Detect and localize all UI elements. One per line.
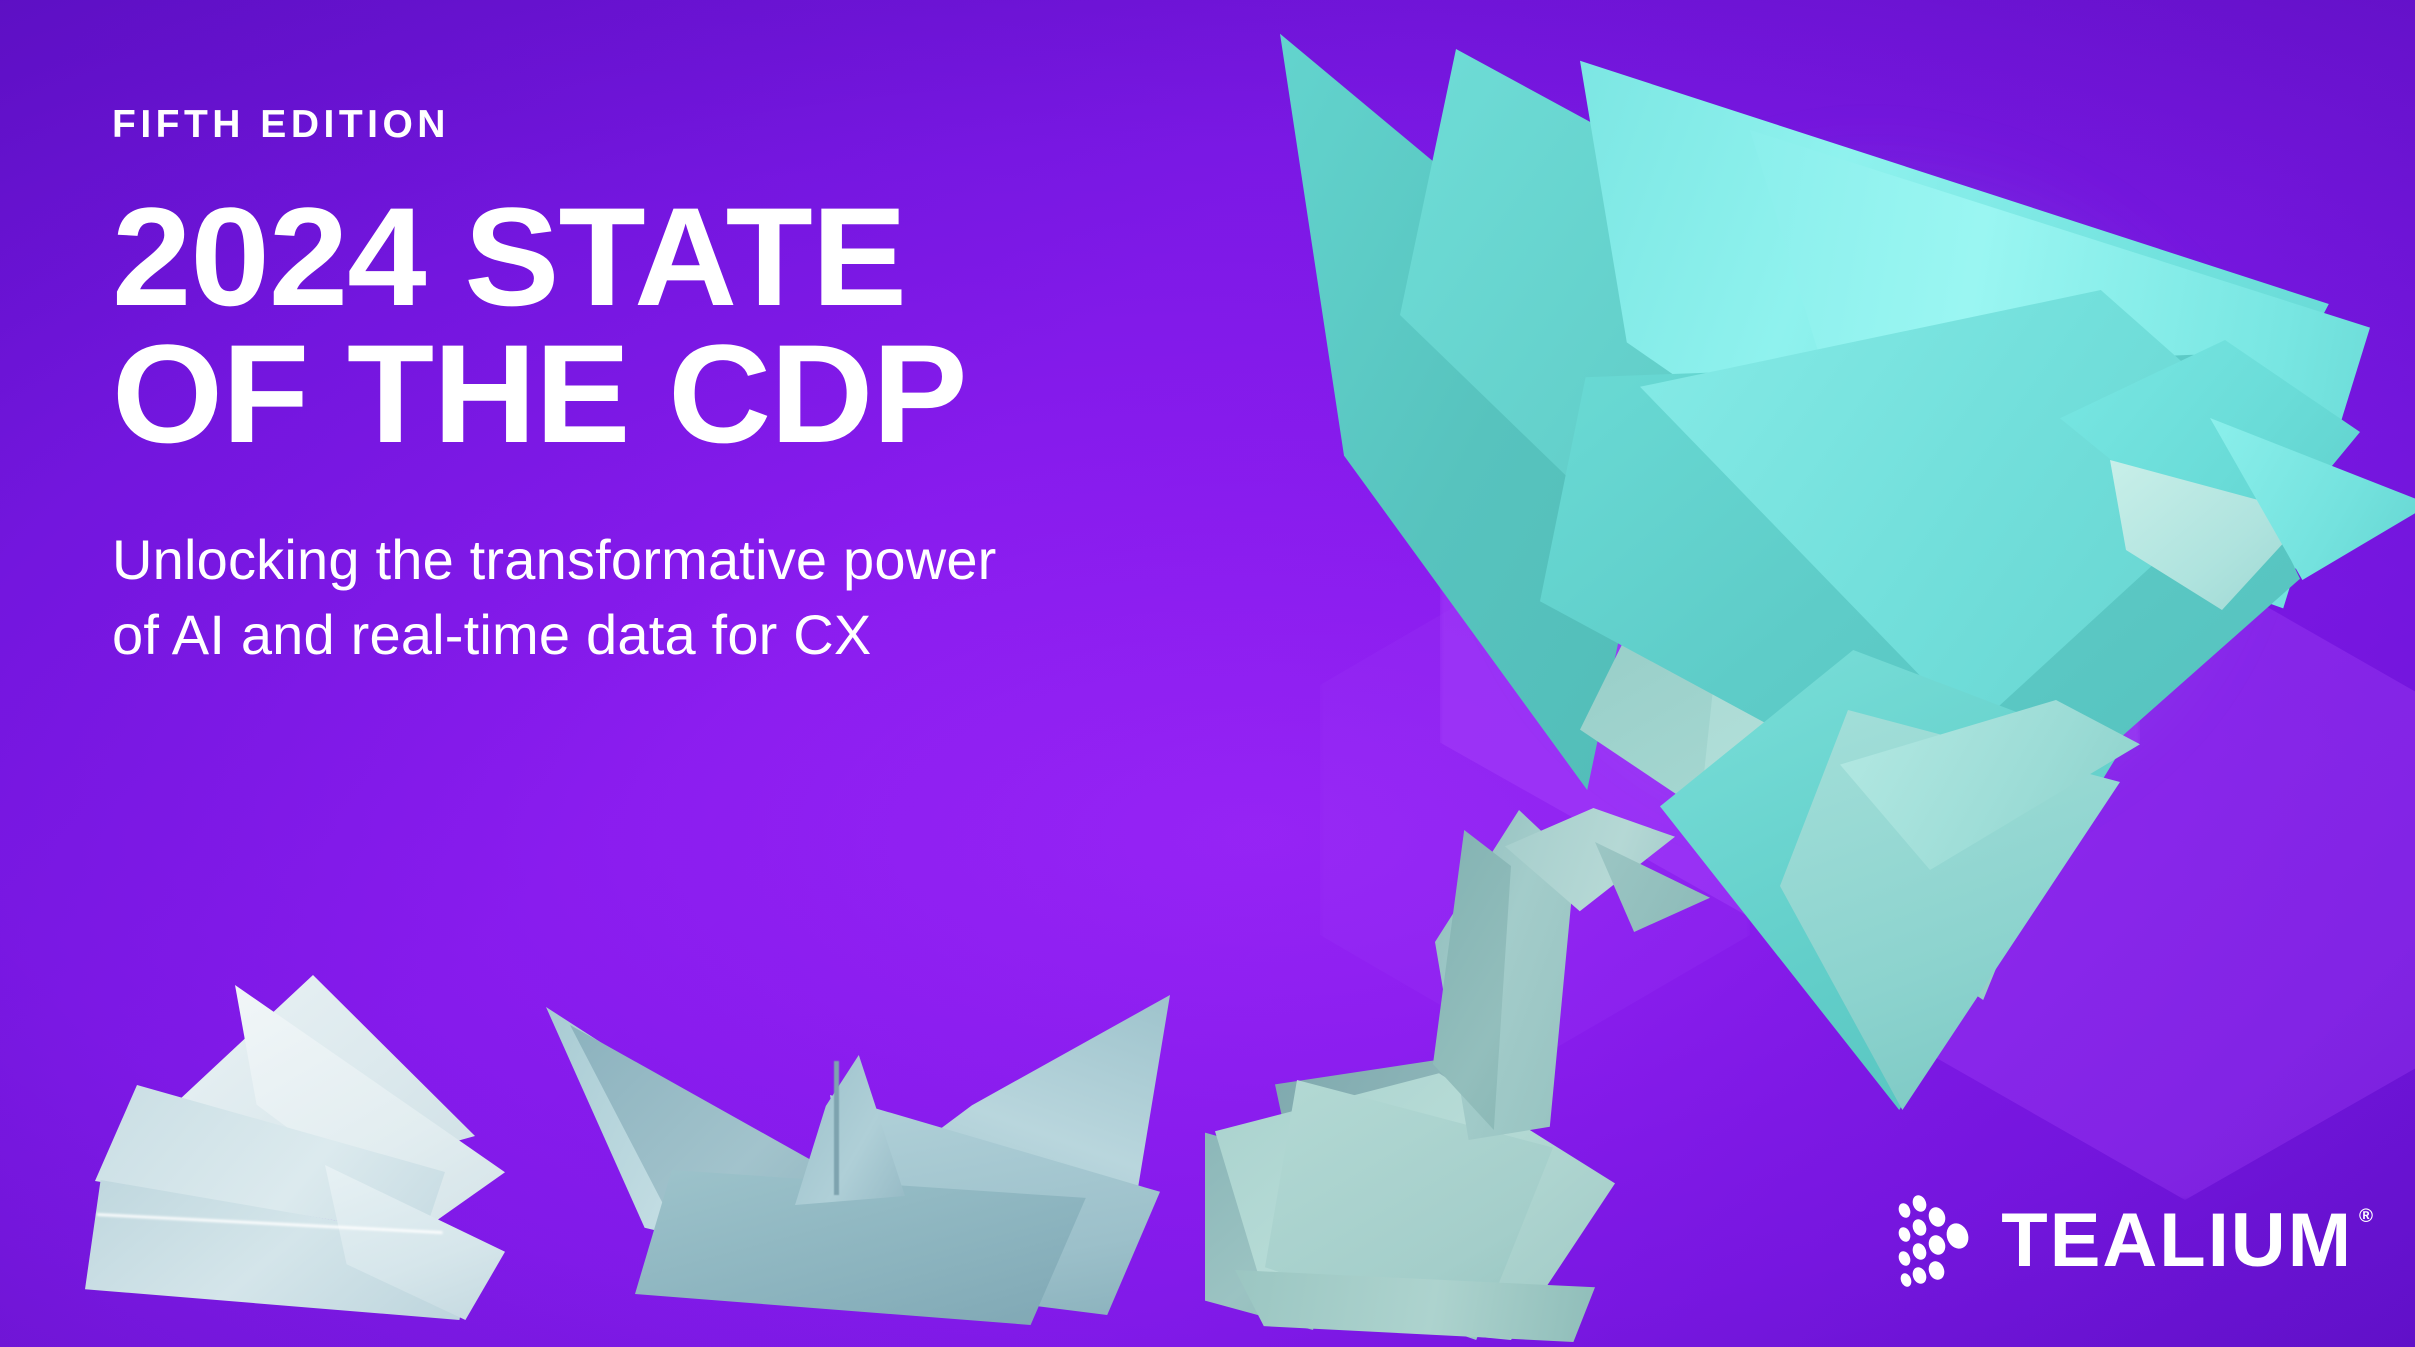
poster-canvas: FIFTH EDITION 2024 STATE OF THE CDP Unlo…	[0, 0, 2415, 1347]
tealium-dot-arrow-icon	[1897, 1193, 1975, 1289]
headline-block: FIFTH EDITION 2024 STATE OF THE CDP Unlo…	[112, 105, 1462, 672]
page-title: 2024 STATE OF THE CDP	[112, 188, 1489, 462]
tealium-mark-dot-6	[1911, 1217, 1929, 1238]
registered-trademark-icon: ®	[2359, 1207, 2373, 1226]
subtitle: Unlocking the transformative power of AI…	[112, 522, 1462, 672]
headline-line-1: 2024 STATE	[112, 188, 1489, 325]
subtitle-line-2: of AI and real-time data for CX	[112, 597, 1462, 672]
boat-mast-crease	[834, 1061, 839, 1195]
edition-eyebrow: FIFTH EDITION	[112, 105, 1462, 144]
tealium-mark-dot-8	[1911, 1265, 1929, 1286]
tealium-mark-dot-4	[1899, 1272, 1914, 1289]
tealium-mark-dot-2	[1897, 1225, 1913, 1243]
tealium-mark-dot-1	[1897, 1201, 1913, 1219]
tealium-wordmark: TEALIUM ®	[2001, 1203, 2353, 1279]
origami-paper-plane	[75, 975, 495, 1335]
origami-boat	[540, 985, 1170, 1330]
tealium-mark-dot-9	[1926, 1205, 1948, 1230]
tealium-logo[interactable]: TEALIUM ®	[1897, 1193, 2353, 1289]
tealium-mark-dot-3	[1897, 1249, 1913, 1267]
tealium-mark-dot-10	[1926, 1233, 1948, 1258]
tealium-mark-dot-12	[1943, 1220, 1972, 1252]
headline-line-2: OF THE CDP	[112, 325, 1489, 462]
tealium-wordmark-text: TEALIUM	[2001, 1198, 2353, 1283]
tealium-mark-dot-11	[1926, 1259, 1947, 1282]
subtitle-line-1: Unlocking the transformative power	[112, 522, 1462, 597]
tealium-mark-dot-5	[1911, 1193, 1929, 1214]
tealium-mark-dot-7	[1911, 1241, 1929, 1262]
